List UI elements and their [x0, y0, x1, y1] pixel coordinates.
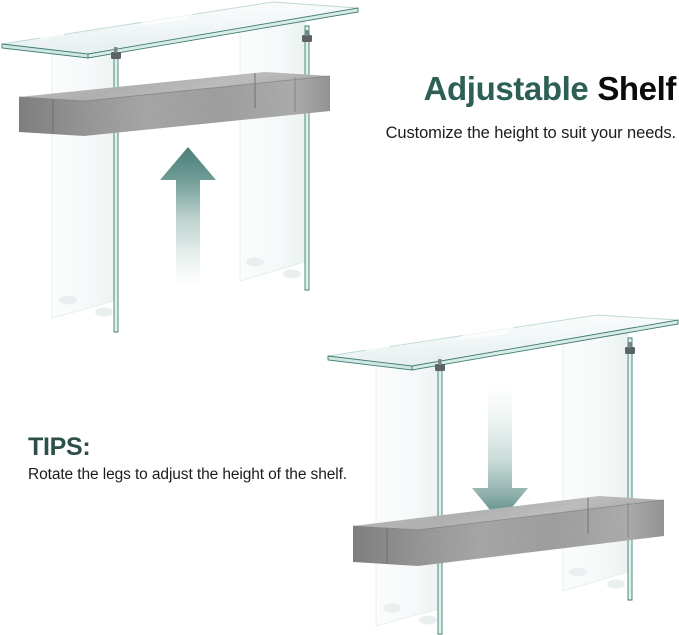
glass-leg-right-front-pane: [628, 338, 632, 600]
tips-text: Rotate the legs to adjust the height of …: [28, 466, 347, 484]
page-title: AdjustableShelf: [380, 72, 676, 107]
console-table-illustration-low: [320, 300, 679, 635]
figure-shelf-high: [0, 0, 360, 345]
figure-shelf-low: [320, 300, 679, 635]
glass-leg-right-front-pane: [305, 26, 309, 290]
console-table-illustration-high: [0, 0, 360, 345]
glass-leg-left: [52, 38, 118, 318]
glass-leg-left: [376, 351, 442, 626]
page-subtitle: Customize the height to suit your needs.: [320, 124, 676, 143]
arrow-up-icon: [160, 147, 216, 285]
infographic-canvas: AdjustableShelf Customize the height to …: [0, 0, 679, 635]
page-title-accent-word: Adjustable: [424, 70, 589, 107]
glass-leg-right: [563, 334, 628, 591]
page-title-plain-word: Shelf: [597, 70, 676, 107]
arrow-down-icon: [472, 384, 528, 522]
glass-leg-left-front-pane: [438, 357, 442, 634]
glass-leg-right: [240, 22, 305, 281]
tips-label: TIPS:: [28, 433, 90, 462]
